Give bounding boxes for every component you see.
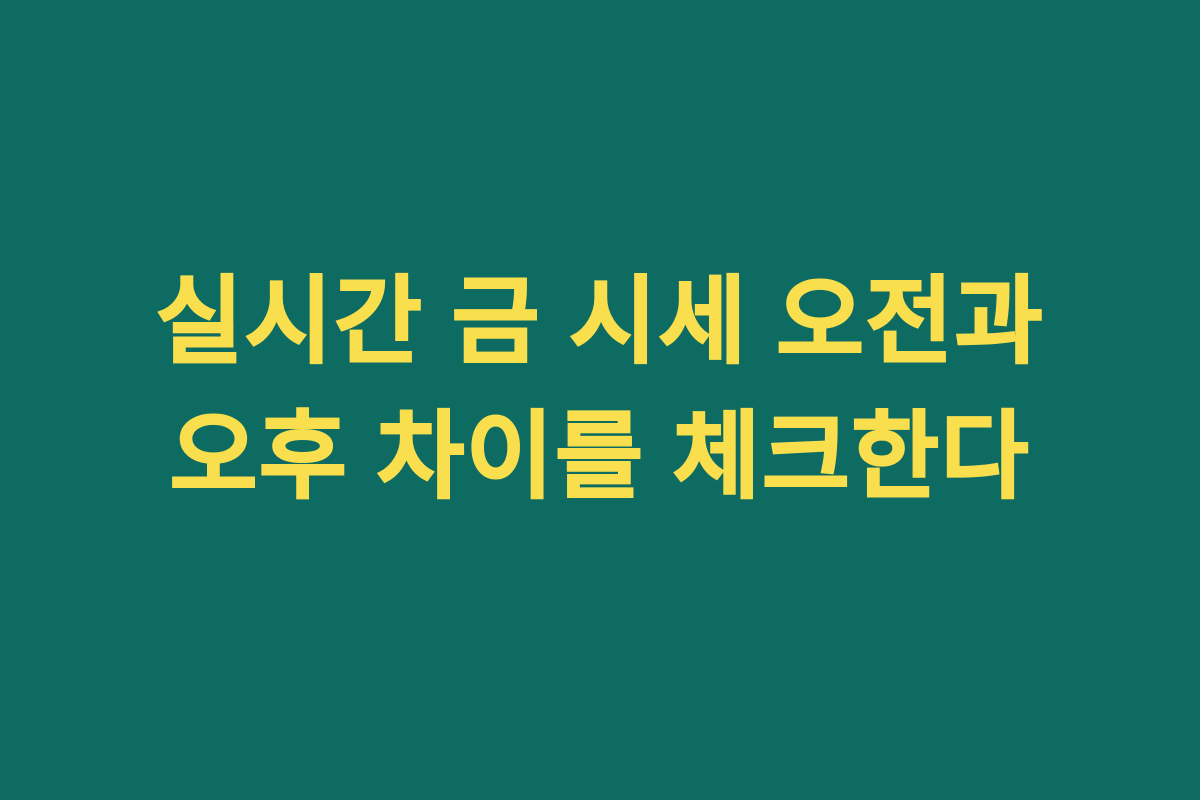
text-banner-card: 실시간 금 시세 오전과 오후 차이를 체크한다 (0, 0, 1200, 800)
headline-line-2: 오후 차이를 체크한다 (170, 390, 1030, 525)
headline-line-1: 실시간 금 시세 오전과 (156, 255, 1045, 390)
headline-block: 실시간 금 시세 오전과 오후 차이를 체크한다 (0, 255, 1200, 525)
